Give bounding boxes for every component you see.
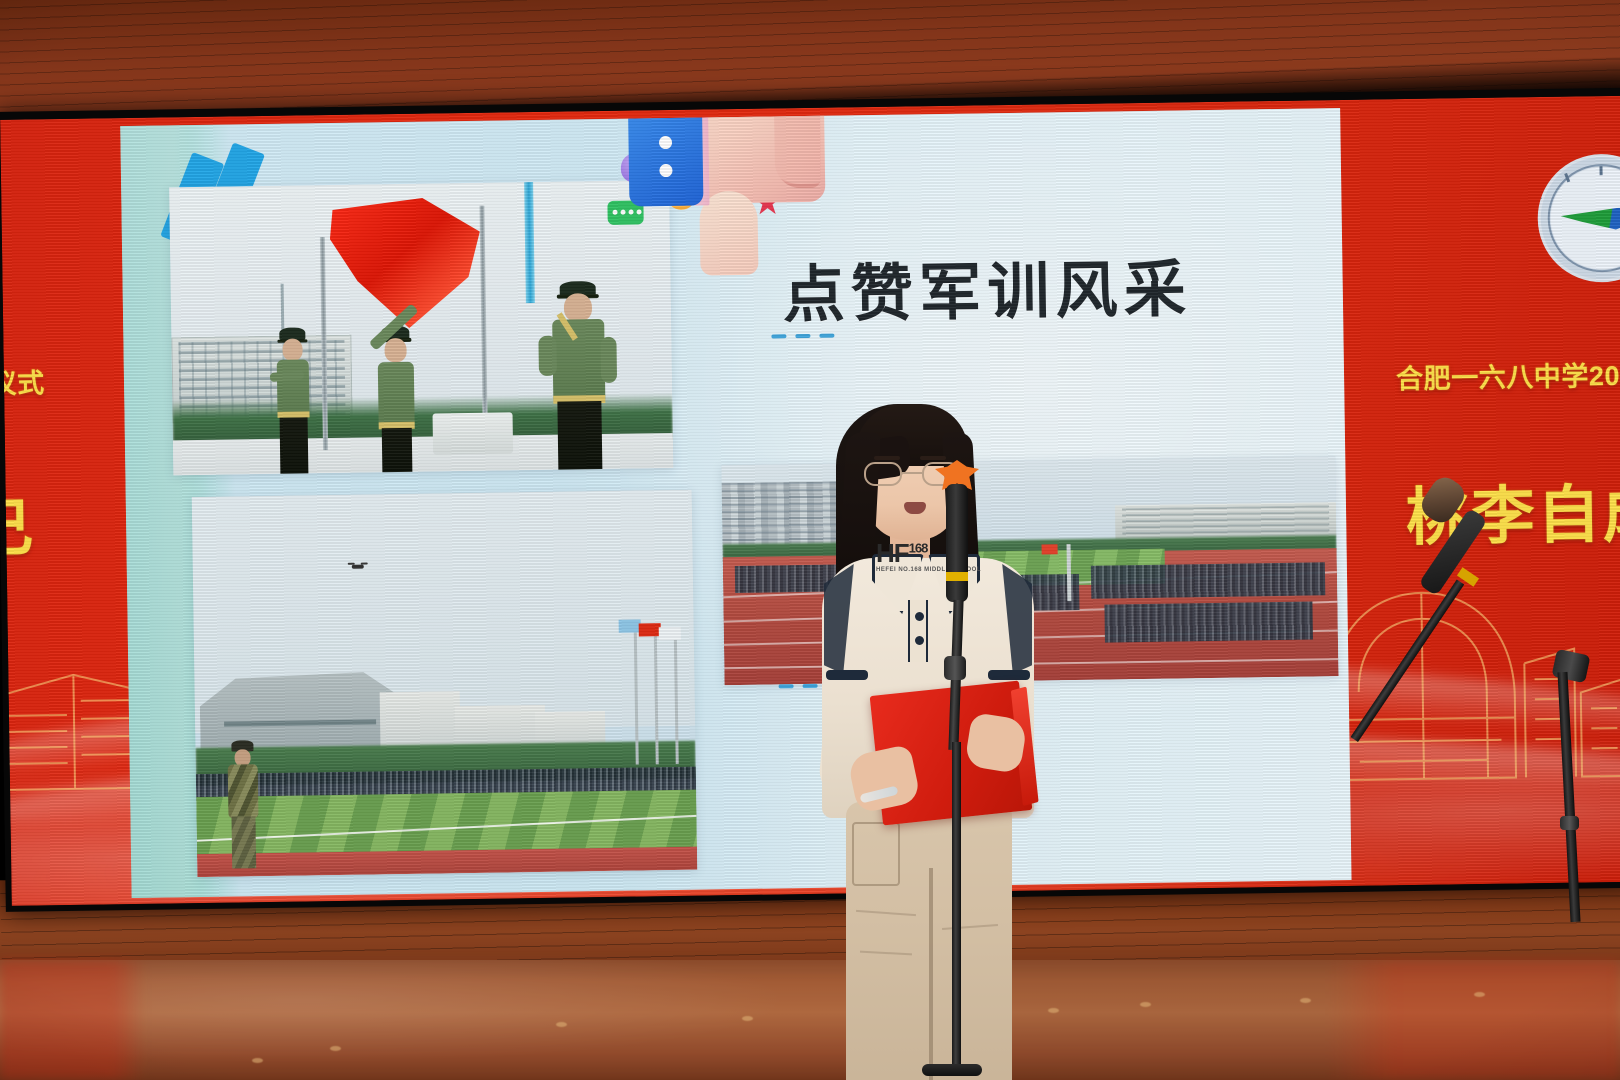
trousers	[846, 802, 1012, 1080]
eyebrow-right	[920, 456, 946, 460]
drone-icon	[348, 563, 368, 570]
floor-specks	[0, 960, 1620, 1080]
banner-building-art-right	[1309, 566, 1620, 801]
shirt-logo-main: HF	[876, 538, 909, 568]
left-banner-big-text: 己	[0, 477, 36, 569]
honor-guard-saluting	[371, 290, 422, 473]
mouth	[904, 502, 926, 514]
instructor-figure	[225, 741, 261, 869]
student-speaker: HF168 HEFEI NO.168 MIDDLE SCHOOL	[818, 398, 1038, 1080]
shirt-logo-sub: 168	[909, 540, 928, 555]
honor-guard-1	[271, 325, 315, 474]
photo-campus-field	[192, 490, 698, 877]
honor-guard-standing	[546, 279, 613, 470]
school-emblem	[1537, 153, 1620, 283]
right-banner-school-line: 合肥一六八中学2025—202	[1396, 352, 1620, 396]
stage-scene: 旗仪式 己 合肥一六八中学2025—202 桃李自成蹊	[0, 0, 1620, 1080]
presentation-slide: f 点赞军训风采	[120, 108, 1351, 898]
stage-led-wall: 旗仪式 己 合肥一六八中学2025—202 桃李自成蹊	[0, 88, 1620, 912]
photo-flag-raising	[169, 180, 673, 475]
left-banner-small-text: 旗仪式	[0, 361, 45, 401]
eyebrow-left	[874, 456, 900, 460]
slide-title: 点赞军训风采	[782, 238, 1192, 334]
